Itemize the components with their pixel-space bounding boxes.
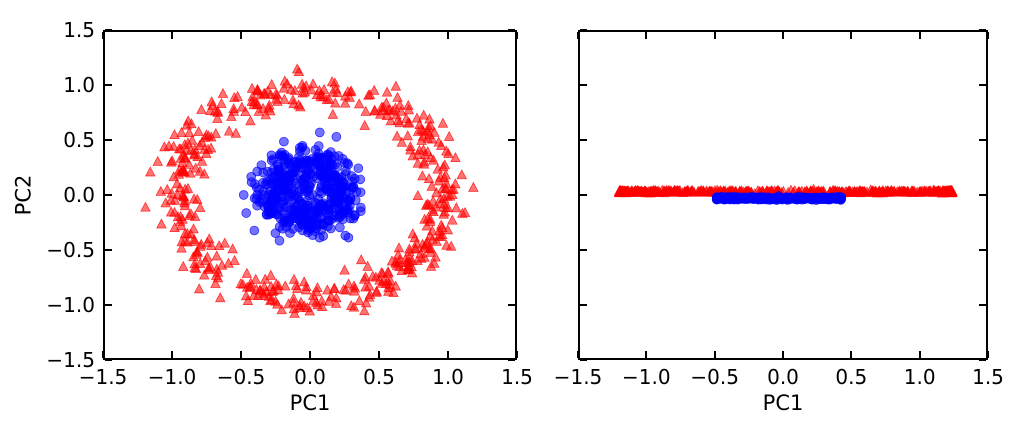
x-tick-label: 0.5: [835, 367, 867, 387]
y-tick-mark: [580, 139, 587, 141]
y-tick-mark: [508, 359, 515, 361]
data-point: [335, 191, 344, 200]
data-point: [391, 81, 400, 90]
data-point: [440, 160, 449, 169]
x-tick-label: 0.5: [363, 367, 395, 387]
data-point: [218, 89, 227, 98]
data-point: [382, 87, 391, 96]
y-tick-label: −1.0: [46, 295, 95, 315]
x-tick-mark: [516, 32, 518, 39]
data-point: [230, 256, 239, 265]
y-tick-mark: [508, 84, 515, 86]
data-point: [315, 128, 324, 137]
y-tick-mark: [979, 304, 986, 306]
data-point: [413, 191, 422, 200]
x-tick-mark: [240, 351, 242, 358]
x-tick-mark: [171, 32, 173, 39]
data-point: [246, 116, 255, 125]
x-tick-mark: [378, 351, 380, 358]
data-point: [340, 265, 349, 274]
data-point: [273, 166, 282, 175]
data-point: [335, 223, 344, 232]
data-point: [281, 281, 290, 290]
left-scatter-canvas: [105, 32, 515, 358]
x-tick-mark: [645, 32, 647, 39]
y-tick-mark: [105, 249, 112, 251]
data-point: [266, 271, 275, 280]
x-tick-mark: [714, 351, 716, 358]
data-point: [153, 156, 162, 165]
data-point: [299, 277, 308, 286]
data-point: [289, 293, 298, 302]
data-point: [341, 170, 350, 179]
data-point: [301, 204, 310, 213]
data-point: [314, 202, 323, 211]
series-inner-blob: [239, 128, 365, 245]
y-tick-label: −0.5: [46, 240, 95, 260]
x-tick-label: −1.5: [554, 367, 603, 387]
data-point: [239, 190, 248, 199]
data-point: [346, 194, 355, 203]
data-point: [349, 183, 358, 192]
data-point: [304, 166, 313, 175]
data-point: [393, 93, 402, 102]
x-tick-mark: [309, 32, 311, 39]
right-plot-area[interactable]: [578, 30, 988, 360]
y-tick-mark: [508, 194, 515, 196]
data-point: [197, 105, 206, 114]
data-point: [356, 207, 365, 216]
data-point: [279, 137, 288, 146]
data-point: [394, 243, 403, 252]
series-inner-blob-projected: [712, 192, 845, 205]
data-point: [289, 187, 298, 196]
data-point: [354, 99, 363, 108]
data-point: [372, 286, 381, 295]
data-point: [332, 132, 341, 141]
x-tick-label: −1.0: [622, 367, 671, 387]
x-tick-mark: [577, 351, 579, 358]
data-point: [360, 121, 369, 130]
x-tick-mark: [309, 351, 311, 358]
data-point: [216, 293, 225, 302]
x-tick-mark: [714, 32, 716, 39]
x-tick-mark: [782, 351, 784, 358]
x-tick-mark: [516, 351, 518, 358]
x-tick-mark: [102, 32, 104, 39]
data-point: [141, 202, 150, 211]
y-tick-mark: [105, 194, 112, 196]
y-tick-label: 0.0: [63, 185, 95, 205]
data-point: [392, 131, 401, 140]
data-point: [444, 132, 453, 141]
data-point: [321, 163, 330, 172]
y-tick-mark: [979, 194, 986, 196]
x-tick-label: 1.0: [432, 367, 464, 387]
data-point: [263, 167, 272, 176]
data-point: [319, 232, 328, 241]
x-tick-label: −0.5: [217, 367, 266, 387]
left-plot-area[interactable]: [103, 30, 517, 360]
data-point: [255, 185, 264, 194]
data-point: [730, 195, 739, 204]
data-point: [344, 233, 353, 242]
y-tick-mark: [580, 29, 587, 31]
x-tick-mark: [577, 32, 579, 39]
data-point: [242, 269, 251, 278]
x-tick-label: 1.5: [972, 367, 1004, 387]
data-point: [224, 126, 233, 135]
y-tick-mark: [508, 249, 515, 251]
data-point: [179, 262, 188, 271]
x-tick-mark: [102, 351, 104, 358]
x-tick-label: 0.0: [294, 367, 326, 387]
right-xaxis-label: PC1: [763, 393, 804, 414]
data-point: [328, 110, 337, 119]
data-point: [361, 272, 370, 281]
data-point: [308, 79, 317, 88]
data-point: [408, 229, 417, 238]
y-tick-mark: [580, 359, 587, 361]
data-point: [196, 203, 205, 212]
data-point: [315, 154, 324, 163]
data-point: [324, 200, 333, 209]
data-point: [298, 143, 307, 152]
y-tick-mark: [580, 249, 587, 251]
data-point: [321, 184, 330, 193]
y-tick-label: 1.0: [63, 75, 95, 95]
data-point: [167, 156, 176, 165]
data-point: [713, 193, 722, 202]
y-tick-mark: [105, 29, 112, 31]
data-point: [212, 251, 221, 260]
data-point: [343, 159, 352, 168]
data-point: [357, 255, 366, 264]
data-point: [403, 131, 412, 140]
data-point: [295, 196, 304, 205]
data-point: [418, 171, 427, 180]
data-point: [163, 185, 172, 194]
data-point: [295, 152, 304, 161]
x-tick-mark: [378, 32, 380, 39]
data-point: [146, 167, 155, 176]
data-point: [289, 274, 298, 283]
x-tick-mark: [850, 351, 852, 358]
y-tick-mark: [979, 139, 986, 141]
pca-figure: −1.5−1.0−0.50.00.51.01.5−1.5−1.0−0.50.00…: [0, 0, 1024, 439]
x-tick-mark: [782, 32, 784, 39]
data-point: [330, 283, 339, 292]
data-point: [242, 209, 251, 218]
data-point: [469, 183, 478, 192]
data-point: [291, 214, 300, 223]
x-tick-mark: [171, 351, 173, 358]
data-point: [319, 220, 328, 229]
data-point: [228, 244, 237, 253]
x-tick-mark: [645, 351, 647, 358]
y-tick-mark: [508, 139, 515, 141]
data-point: [448, 215, 457, 224]
x-tick-mark: [240, 32, 242, 39]
data-point: [764, 194, 773, 203]
data-point: [293, 64, 302, 73]
data-point: [326, 174, 335, 183]
x-tick-label: 1.5: [501, 367, 533, 387]
x-tick-mark: [987, 32, 989, 39]
data-point: [354, 164, 363, 173]
data-point: [298, 185, 307, 194]
data-point: [263, 180, 272, 189]
data-point: [205, 234, 214, 243]
data-point: [194, 284, 203, 293]
x-tick-mark: [447, 32, 449, 39]
data-point: [307, 224, 316, 233]
y-tick-mark: [979, 359, 986, 361]
left-yaxis-label: PC2: [14, 175, 35, 216]
x-tick-mark: [850, 32, 852, 39]
data-point: [157, 219, 166, 228]
y-tick-mark: [105, 359, 112, 361]
data-point: [217, 99, 226, 108]
data-point: [836, 195, 845, 204]
y-tick-mark: [105, 139, 112, 141]
data-point: [826, 193, 835, 202]
y-tick-mark: [979, 249, 986, 251]
data-point: [312, 174, 321, 183]
y-tick-mark: [979, 29, 986, 31]
data-point: [779, 194, 788, 203]
data-point: [306, 157, 315, 166]
y-tick-mark: [105, 304, 112, 306]
data-point: [275, 174, 284, 183]
x-tick-mark: [919, 351, 921, 358]
data-point: [356, 175, 365, 184]
data-point: [211, 129, 220, 138]
data-point: [814, 194, 823, 203]
data-point: [419, 110, 428, 119]
left-xaxis-label: PC1: [290, 393, 331, 414]
y-tick-label: 1.5: [63, 20, 95, 40]
data-point: [438, 118, 447, 127]
data-point: [457, 170, 466, 179]
y-tick-mark: [580, 84, 587, 86]
y-tick-mark: [508, 304, 515, 306]
data-point: [451, 179, 460, 188]
data-point: [271, 196, 280, 205]
data-point: [404, 101, 413, 110]
data-point: [355, 296, 364, 305]
y-tick-mark: [508, 29, 515, 31]
x-tick-mark: [919, 32, 921, 39]
data-point: [305, 191, 314, 200]
y-tick-label: −1.5: [46, 350, 95, 370]
y-tick-label: 0.5: [63, 130, 95, 150]
y-tick-mark: [580, 194, 587, 196]
data-point: [275, 222, 284, 231]
data-point: [289, 171, 298, 180]
right-scatter-canvas: [580, 32, 986, 358]
y-tick-mark: [979, 84, 986, 86]
y-tick-mark: [580, 304, 587, 306]
data-point: [284, 159, 293, 168]
x-tick-mark: [987, 351, 989, 358]
x-tick-label: −1.0: [148, 367, 197, 387]
data-point: [264, 203, 273, 212]
data-point: [279, 198, 288, 207]
x-tick-mark: [447, 351, 449, 358]
data-point: [790, 194, 799, 203]
data-point: [441, 170, 450, 179]
x-tick-label: 1.0: [904, 367, 936, 387]
y-tick-mark: [105, 84, 112, 86]
data-point: [452, 203, 461, 212]
data-point: [250, 226, 259, 235]
data-point: [275, 236, 284, 245]
x-tick-label: 0.0: [767, 367, 799, 387]
x-tick-label: −0.5: [690, 367, 739, 387]
data-point: [276, 152, 285, 161]
